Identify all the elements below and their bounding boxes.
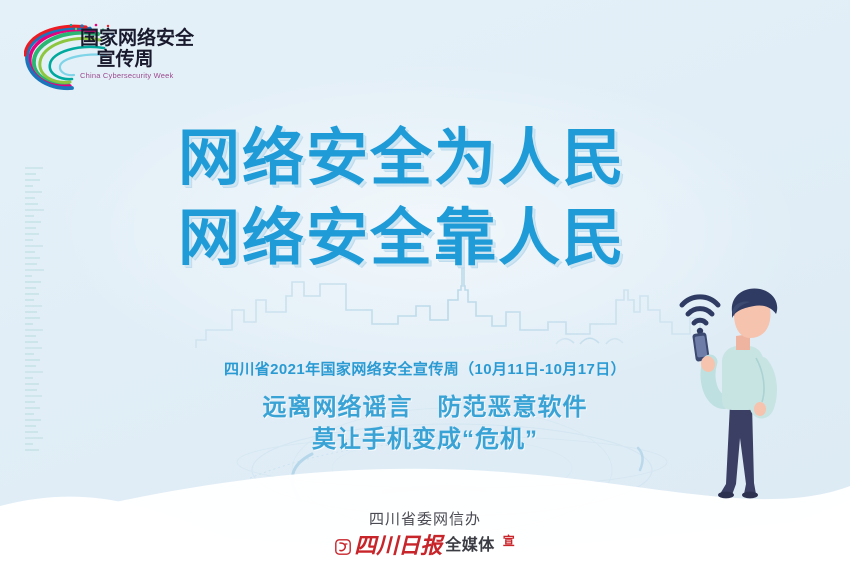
wifi-signal-icon [682,297,718,334]
logo-line-1: 国家网络安全 [80,28,192,49]
credit-stamp-label: 宣 [503,532,515,549]
headline-line-2: 网络安全靠人民 [178,198,698,278]
headline-line-1: 网络安全为人民 [178,118,698,198]
credit-organization: 四川省委网信办 [0,510,850,530]
city-skyline-outline [196,268,700,348]
person-holding-phone-illustration [672,278,802,510]
credit-paper-name: 四川日报 [354,535,442,557]
logo-line-3-english: China Cybersecurity Week [80,71,192,80]
china-cybersecurity-week-logo: 国家网络安全 宣传周 China Cybersecurity Week [24,22,189,94]
credit-media-label: 全媒体 [445,536,495,556]
credit-media-row: 四川日报 全媒体 宣 [0,532,850,557]
logo-line-2: 宣传周 [92,49,158,70]
poster-canvas: 国家网络安全 宣传周 China Cybersecurity Week 网络安全… [0,0,850,580]
credits-block: 四川省委网信办 四川日报 全媒体 宣 [0,510,850,557]
headline-block: 网络安全为人民 网络安全靠人民 [178,118,698,278]
red-seal-icon [335,539,351,555]
